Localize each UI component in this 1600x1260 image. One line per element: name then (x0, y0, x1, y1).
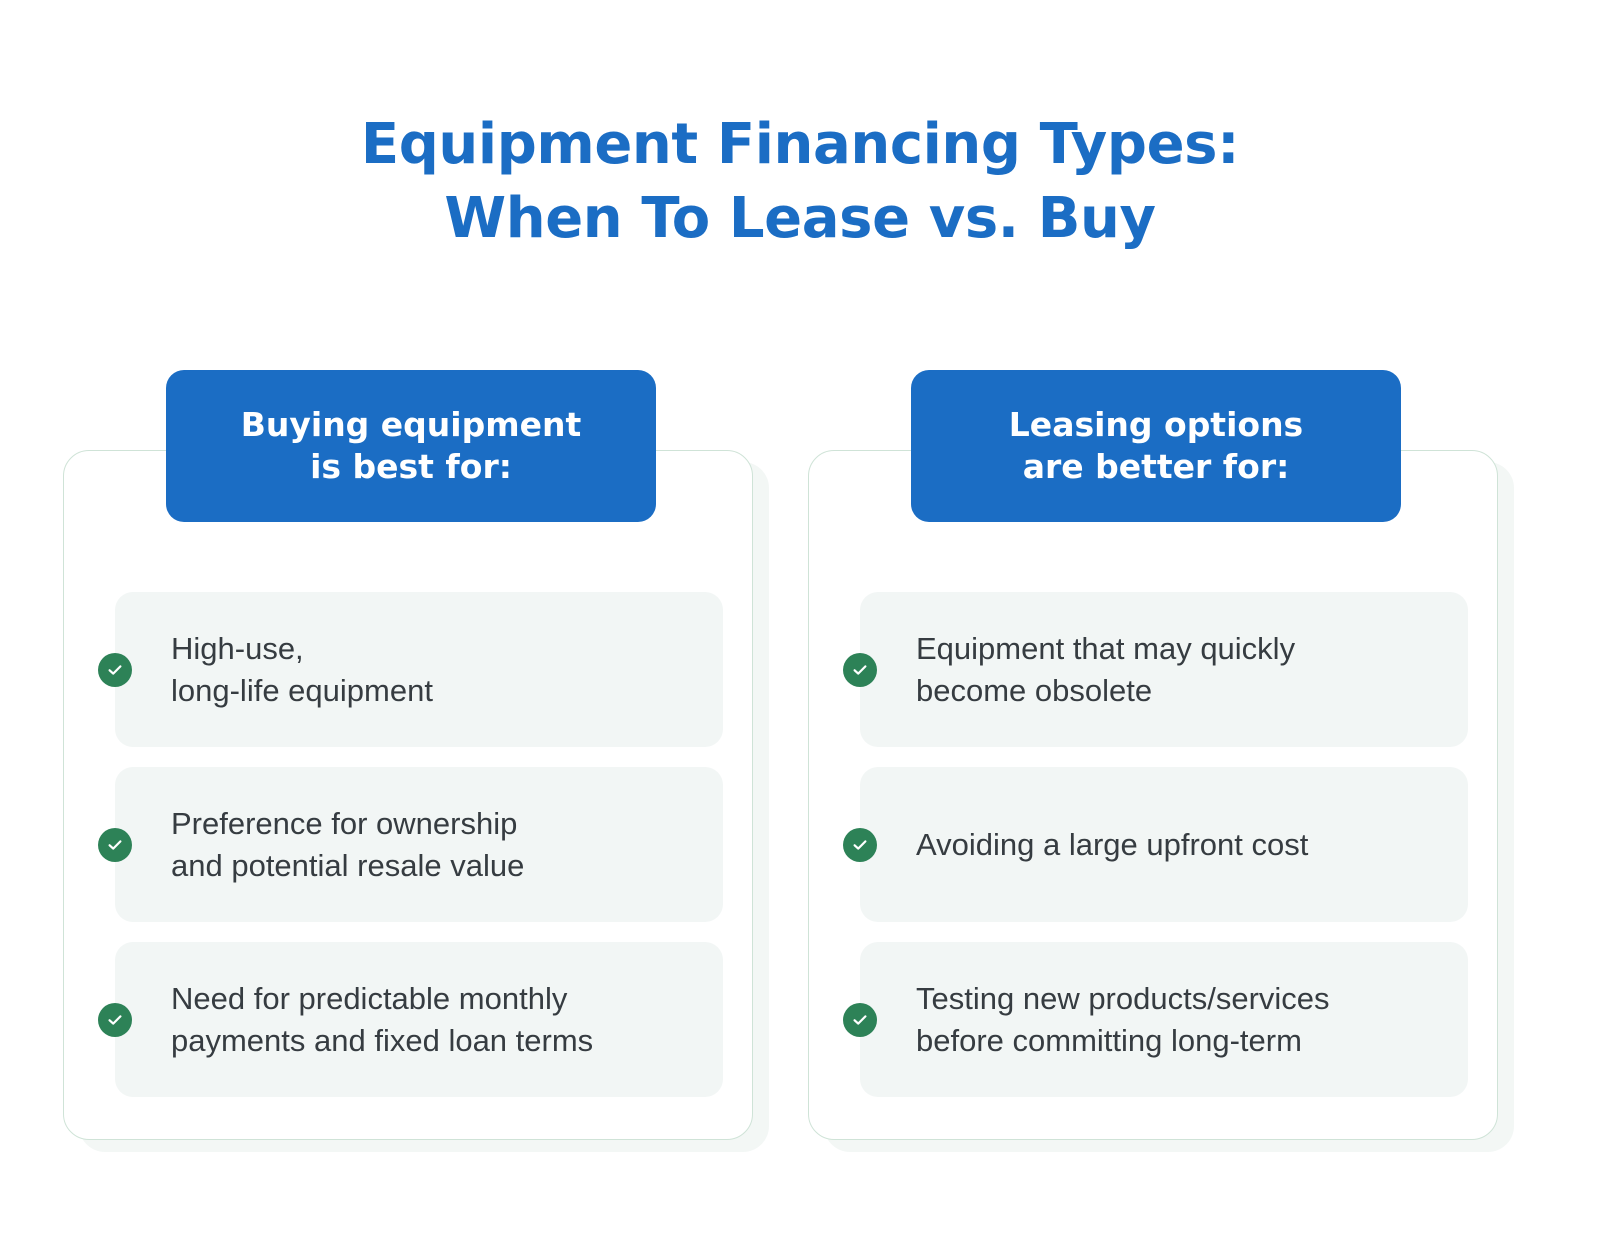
list-item: Equipment that may quickly become obsole… (808, 592, 1498, 747)
check-circle-icon (843, 828, 877, 862)
item-text-line-2: become obsolete (916, 670, 1456, 712)
item-text-line-1: Preference for ownership (171, 803, 711, 845)
item-text-line-2: and potential resale value (171, 845, 711, 887)
item-text-line-1: Testing new products/services (916, 978, 1456, 1020)
badge-leasing-line-1: Leasing options (1009, 404, 1303, 446)
page-title-line-1: Equipment Financing Types: (0, 108, 1600, 182)
page-title: Equipment Financing Types: When To Lease… (0, 108, 1600, 256)
badge-leasing-line-2: are better for: (1023, 446, 1290, 488)
check-circle-icon (843, 1003, 877, 1037)
item-text-line-1: Equipment that may quickly (916, 628, 1456, 670)
comparison-columns: Buying equipment is best for: High-use, … (0, 370, 1600, 1170)
list-item: Avoiding a large upfront cost (808, 767, 1498, 922)
badge-buying-line-2: is best for: (310, 446, 512, 488)
check-circle-icon (98, 653, 132, 687)
list-item: Need for predictable monthly payments an… (63, 942, 753, 1097)
list-item: Testing new products/services before com… (808, 942, 1498, 1097)
item-text: Preference for ownership and potential r… (171, 767, 711, 922)
column-leasing: Leasing options are better for: Equipmen… (808, 370, 1513, 1160)
check-circle-icon (843, 653, 877, 687)
item-text-line-1: Need for predictable monthly (171, 978, 711, 1020)
list-item: High-use, long-life equipment (63, 592, 753, 747)
page-title-line-2: When To Lease vs. Buy (0, 182, 1600, 256)
check-circle-icon (98, 1003, 132, 1037)
item-text-line-2: long-life equipment (171, 670, 711, 712)
item-text: Need for predictable monthly payments an… (171, 942, 711, 1097)
check-circle-icon (98, 828, 132, 862)
item-text-line-1: Avoiding a large upfront cost (916, 824, 1456, 866)
item-text: Equipment that may quickly become obsole… (916, 592, 1456, 747)
item-text-line-2: before committing long-term (916, 1020, 1456, 1062)
item-list-leasing: Equipment that may quickly become obsole… (808, 592, 1498, 1097)
item-text: Avoiding a large upfront cost (916, 767, 1456, 922)
badge-leasing: Leasing options are better for: (911, 370, 1401, 522)
badge-buying-line-1: Buying equipment (241, 404, 582, 446)
item-text-line-1: High-use, (171, 628, 711, 670)
item-text: Testing new products/services before com… (916, 942, 1456, 1097)
item-list-buying: High-use, long-life equipment Preference… (63, 592, 753, 1097)
badge-buying: Buying equipment is best for: (166, 370, 656, 522)
column-buying: Buying equipment is best for: High-use, … (63, 370, 768, 1160)
item-text: High-use, long-life equipment (171, 592, 711, 747)
item-text-line-2: payments and fixed loan terms (171, 1020, 711, 1062)
list-item: Preference for ownership and potential r… (63, 767, 753, 922)
infographic-page: Equipment Financing Types: When To Lease… (0, 0, 1600, 1260)
